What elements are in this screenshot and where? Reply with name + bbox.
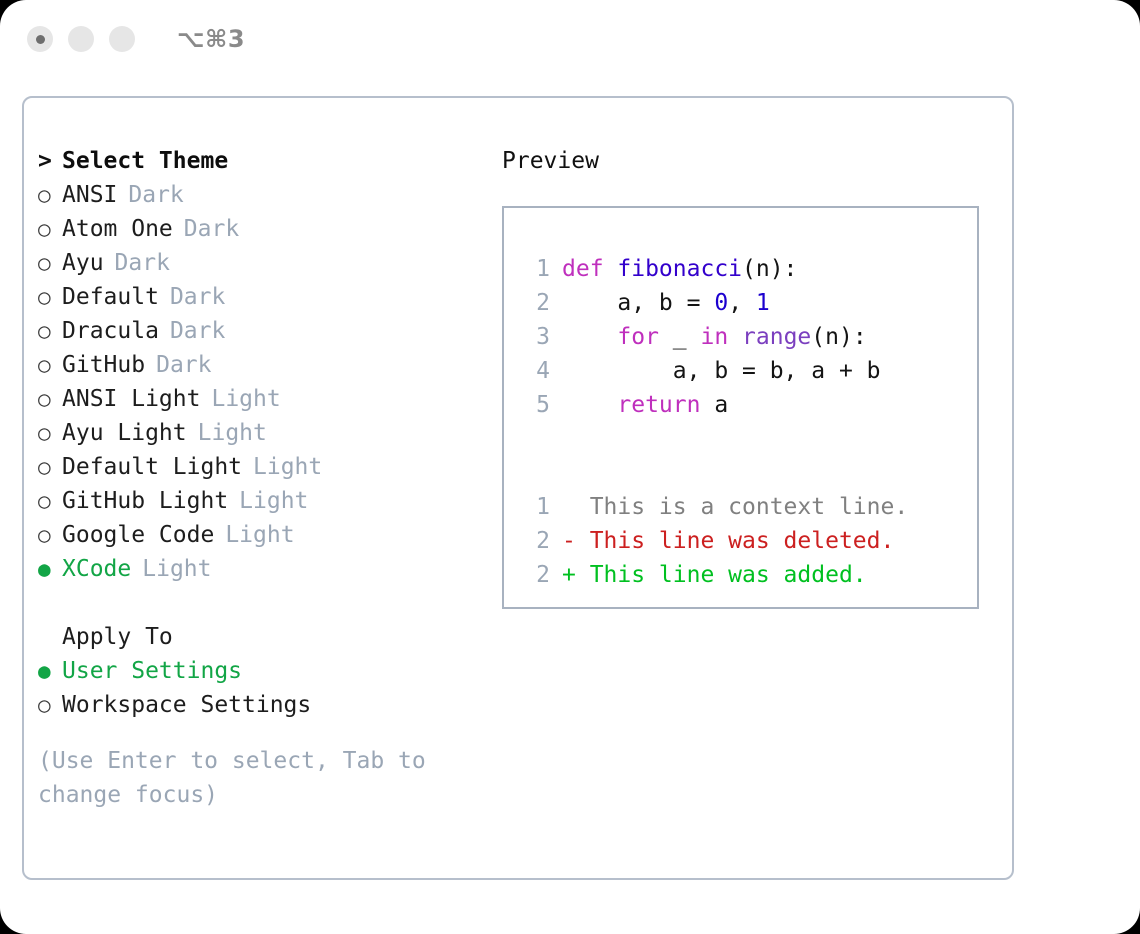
code-line: 2 a, b = 0, 1 [520,286,977,320]
apply-to-label: Workspace Settings [62,688,311,722]
theme-variant: Light [242,450,322,484]
code-token: range [742,320,811,354]
theme-variant: Light [200,382,280,416]
theme-option-ansi-light[interactable]: ○ANSI LightLight [38,382,488,416]
theme-variant: Dark [117,178,183,212]
theme-option-default-light[interactable]: ○Default LightLight [38,450,488,484]
code-token: (n): [742,252,797,286]
select-theme-heading: >Select Theme [38,144,488,178]
code-line: 3 for _ in range(n): [520,320,977,354]
theme-option-github-light[interactable]: ○GitHub LightLight [38,484,488,518]
code-token: a, b = [562,286,714,320]
line-number: 5 [520,388,550,422]
radio-unselected-icon: ○ [38,450,62,484]
code-token: return [617,388,700,422]
theme-label: GitHub Light [62,484,228,518]
radio-selected-icon: ● [38,654,62,688]
preview-box: 1def fibonacci(n): 2 a, b = 0, 1 3 for _… [502,206,979,609]
theme-label: Ayu [62,246,104,280]
theme-option-xcode[interactable]: ●XCodeLight [38,552,488,586]
theme-label: ANSI [62,178,117,212]
code-token [728,320,742,354]
diff-line-context: 1 This is a context line. [520,490,977,524]
theme-option-ayu-dark[interactable]: ○AyuDark [38,246,488,280]
keyboard-shortcut-label: ⌥⌘3 [177,25,245,53]
theme-variant: Light [131,552,211,586]
theme-variant: Dark [159,280,225,314]
code-blank-line [520,422,977,456]
line-number: 4 [520,354,550,388]
select-theme-heading-label: Select Theme [62,144,228,178]
caret-icon: > [38,144,62,178]
blank-marker: o [38,620,62,654]
line-number: 2 [520,558,550,592]
theme-variant: Light [214,518,294,552]
theme-label: Google Code [62,518,214,552]
radio-unselected-icon: ○ [38,382,62,416]
preview-title: Preview [502,144,1002,178]
code-token: 1 [756,286,770,320]
code-token: def [562,252,617,286]
theme-label: Atom One [62,212,173,246]
line-number: 1 [520,252,550,286]
theme-option-dracula-dark[interactable]: ○DraculaDark [38,314,488,348]
theme-variant: Dark [159,314,225,348]
code-token: (n): [811,320,866,354]
diff-line-deleted: 2- This line was deleted. [520,524,977,558]
code-token: , [728,286,756,320]
main-panel: >Select Theme ○ANSIDark ○Atom OneDark ○A… [22,96,1014,880]
theme-option-default-dark[interactable]: ○DefaultDark [38,280,488,314]
theme-label: Default Light [62,450,242,484]
preview-column: Preview 1def fibonacci(n): 2 a, b = 0, 1… [502,144,1002,609]
code-token: in [700,320,728,354]
diff-line-added: 2+ This line was added. [520,558,977,592]
traffic-light-maximize[interactable] [109,26,135,52]
apply-to-heading: oApply To [38,620,488,654]
traffic-light-minimize[interactable] [68,26,94,52]
radio-unselected-icon: ○ [38,178,62,212]
apply-to-label: User Settings [62,654,242,688]
traffic-light-close[interactable] [27,26,53,52]
theme-variant: Light [187,416,267,450]
code-token: a [700,388,728,422]
theme-label: Default [62,280,159,314]
theme-option-ansi-dark[interactable]: ○ANSIDark [38,178,488,212]
theme-label: Ayu Light [62,416,187,450]
window-controls [27,26,135,52]
code-line: 1def fibonacci(n): [520,252,977,286]
title-bar: ⌥⌘3 [0,0,1140,78]
code-token [562,388,617,422]
code-token: 0 [714,286,728,320]
theme-picker-column: >Select Theme ○ANSIDark ○Atom OneDark ○A… [38,144,488,812]
theme-option-github-dark[interactable]: ○GitHubDark [38,348,488,382]
line-number: 2 [520,524,550,558]
section-spacer [38,586,488,620]
radio-unselected-icon: ○ [38,212,62,246]
code-token: a, b = b, a + b [562,354,881,388]
traffic-light-dot-icon [36,35,45,44]
theme-variant: Dark [173,212,239,246]
code-blank-line [520,456,977,490]
keyboard-hint-text: (Use Enter to select, Tab to change focu… [38,744,438,812]
theme-option-ayu-light[interactable]: ○Ayu LightLight [38,416,488,450]
radio-unselected-icon: ○ [38,416,62,450]
diff-text: + This line was added. [562,558,867,592]
line-number: 3 [520,320,550,354]
radio-unselected-icon: ○ [38,314,62,348]
radio-unselected-icon: ○ [38,484,62,518]
theme-option-atom-one-dark[interactable]: ○Atom OneDark [38,212,488,246]
radio-selected-icon: ● [38,552,62,586]
code-token: _ [659,320,701,354]
theme-label: ANSI Light [62,382,200,416]
radio-unselected-icon: ○ [38,688,62,722]
code-token: for [617,320,659,354]
app-window: ⌥⌘3 >Select Theme ○ANSIDark ○Atom OneDar… [0,0,1140,934]
radio-unselected-icon: ○ [38,518,62,552]
theme-variant: Light [228,484,308,518]
apply-to-option-workspace-settings[interactable]: ○Workspace Settings [38,688,488,722]
radio-unselected-icon: ○ [38,246,62,280]
apply-to-option-user-settings[interactable]: ●User Settings [38,654,488,688]
apply-to-heading-label: Apply To [62,620,173,654]
code-token: fibonacci [617,252,742,286]
theme-variant: Dark [145,348,211,382]
theme-option-google-code[interactable]: ○Google CodeLight [38,518,488,552]
theme-variant: Dark [104,246,170,280]
code-token [562,320,617,354]
code-line: 4 a, b = b, a + b [520,354,977,388]
radio-unselected-icon: ○ [38,280,62,314]
line-number: 2 [520,286,550,320]
diff-text: This is a context line. [562,490,908,524]
code-line: 5 return a [520,388,977,422]
theme-label: GitHub [62,348,145,382]
diff-text: - This line was deleted. [562,524,894,558]
theme-label: XCode [62,552,131,586]
radio-unselected-icon: ○ [38,348,62,382]
line-number: 1 [520,490,550,524]
theme-label: Dracula [62,314,159,348]
